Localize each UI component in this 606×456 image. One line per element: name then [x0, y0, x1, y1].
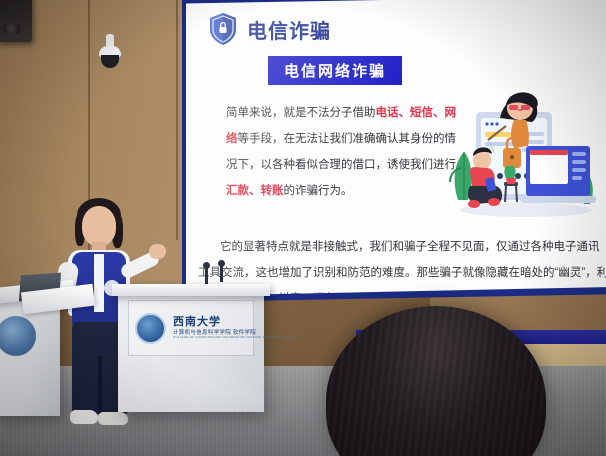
laptop-device: [520, 146, 596, 203]
microphone-stand-icon: [218, 260, 225, 267]
presentation-slide: 电信诈骗 电信网络诈骗 简单来说，就是不法分子借助电话、短信、网络等手段，在无法…: [186, 0, 606, 296]
p1-highlight-2: 汇款、转账: [226, 185, 284, 197]
presenter-head: [82, 206, 116, 246]
microphone-stand-icon: [203, 262, 210, 269]
presenter-trouser-seam: [98, 356, 102, 414]
p1-seg3: 的诈骗行为。: [284, 185, 353, 197]
slide-banner: 电信网络诈骗: [268, 56, 402, 85]
p1-seg1: 简单来说，就是不法分子借助: [226, 107, 376, 119]
podium-desktop: [112, 284, 270, 296]
university-department-en: COLLEGE OF COMPUTER AND INFORMATION SCIE…: [173, 336, 298, 340]
university-podium: 西南大学 计算机与信息科学学院 软件学院 COLLEGE OF COMPUTER…: [118, 288, 264, 412]
presenter-right-shoe: [98, 412, 128, 425]
presenter-vest-opening: [94, 254, 104, 312]
wall-speaker-icon: [0, 0, 32, 42]
university-name: 西南大学: [173, 316, 298, 330]
presenter-right-hand: [149, 244, 166, 259]
phishing-illustration: [448, 82, 598, 222]
podium-text-block: 西南大学 计算机与信息科学学院 软件学院 COLLEGE OF COMPUTER…: [173, 316, 298, 340]
wall-seam: [176, 0, 178, 240]
illu-shadow: [460, 203, 592, 217]
p1-seg2: 等手段，在无法让我们准确确认其身份的情况下，以各种看似合理的借口，诱使我们进行: [226, 133, 456, 171]
lecture-hall-photo: 电信诈骗 电信网络诈骗 简单来说，就是不法分子借助电话、短信、网络等手段，在无法…: [0, 0, 606, 456]
slide-paragraph-1: 简单来说，就是不法分子借助电话、短信、网络等手段，在无法让我们准确确认其身份的情…: [226, 100, 456, 204]
shield-lock-icon: [208, 12, 238, 46]
projection-screen: 电信诈骗 电信网络诈骗 简单来说，就是不法分子借助电话、短信、网络等手段，在无法…: [186, 0, 606, 296]
presenter-left-shoe: [70, 410, 98, 424]
security-camera-icon: [99, 44, 121, 64]
slide-title: 电信诈骗: [247, 15, 331, 44]
university-seal-icon: [135, 313, 166, 344]
podium-nameplate: 西南大学 计算机与信息科学学院 软件学院 COLLEGE OF COMPUTER…: [128, 300, 254, 356]
lectern-seal-icon: [0, 316, 36, 356]
slide-header: 电信诈骗: [208, 12, 331, 46]
